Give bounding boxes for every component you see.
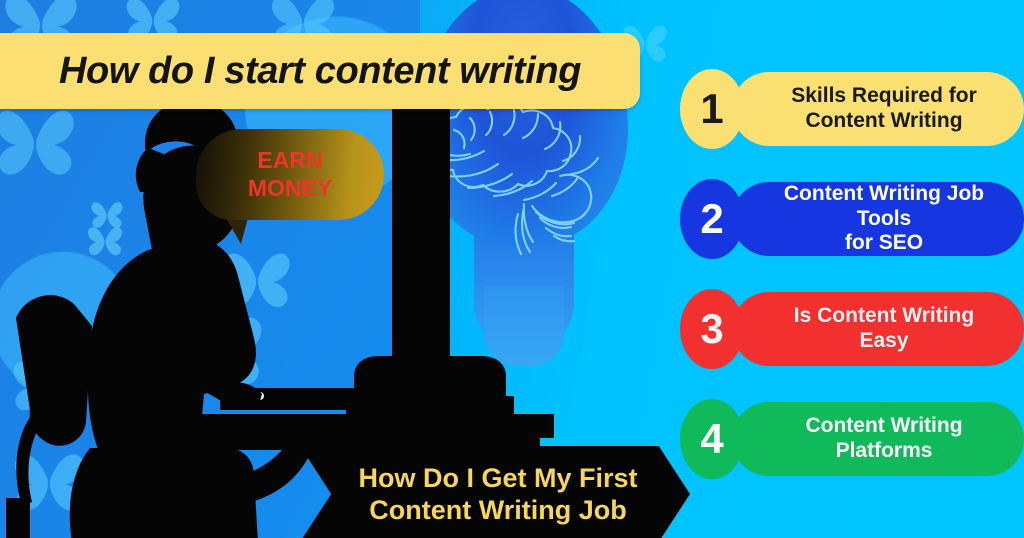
- list-item-1-number: 1: [680, 69, 744, 149]
- list-item-4-line1: Content Writing: [805, 414, 962, 437]
- list-item-3-line2: Easy: [859, 329, 908, 352]
- speech-bubble: EARN MONEY: [196, 129, 384, 220]
- bottom-banner-text: How Do I Get My First Content Writing Jo…: [336, 462, 653, 527]
- bottom-banner-line2: Content Writing Job: [369, 495, 626, 525]
- list-item-1-pill[interactable]: Skills Required for Content Writing: [732, 72, 1024, 146]
- bottom-banner-line1: How Do I Get My First: [358, 463, 637, 493]
- list-item-2-number: 2: [680, 179, 744, 259]
- list-item-3-line1: Is Content Writing: [794, 304, 974, 327]
- list-item-2-line1: Content Writing Job Tools: [784, 182, 984, 230]
- bottom-arrow-banner: How Do I Get My First Content Writing Jo…: [300, 446, 690, 538]
- list-item-4-number: 4: [680, 399, 744, 479]
- list-item-1-line2: Content Writing: [805, 109, 962, 132]
- list-item-3-label: Is Content Writing Easy: [794, 304, 974, 354]
- list-item-3-number: 3: [680, 289, 744, 369]
- speech-bubble-line1: EARN: [257, 147, 322, 173]
- list-item-3[interactable]: Is Content Writing Easy 3: [676, 288, 1024, 370]
- infographic-canvas: How do I start content writing EARN MONE…: [0, 0, 1024, 538]
- speech-bubble-text: EARN MONEY: [248, 147, 332, 201]
- list-item-1[interactable]: Skills Required for Content Writing 1: [676, 68, 1024, 150]
- list-item-2-line2: for SEO: [845, 231, 923, 254]
- list-item-2-pill[interactable]: Content Writing Job Tools for SEO: [732, 182, 1024, 256]
- title-banner: How do I start content writing: [0, 33, 640, 109]
- page-title: How do I start content writing: [33, 50, 581, 93]
- speech-bubble-line2: MONEY: [248, 175, 332, 201]
- list-item-4-label: Content Writing Platforms: [805, 414, 962, 464]
- list-item-2[interactable]: Content Writing Job Tools for SEO 2: [676, 178, 1024, 260]
- list-item-4-pill[interactable]: Content Writing Platforms: [732, 402, 1024, 476]
- numbered-list: Skills Required for Content Writing 1 Co…: [676, 68, 1024, 498]
- list-item-1-line1: Skills Required for: [791, 84, 977, 107]
- list-item-1-label: Skills Required for Content Writing: [791, 84, 977, 134]
- list-item-4-line2: Platforms: [836, 439, 933, 462]
- list-item-2-label: Content Writing Job Tools for SEO: [758, 182, 1010, 256]
- list-item-4[interactable]: Content Writing Platforms 4: [676, 398, 1024, 480]
- list-item-3-pill[interactable]: Is Content Writing Easy: [732, 292, 1024, 366]
